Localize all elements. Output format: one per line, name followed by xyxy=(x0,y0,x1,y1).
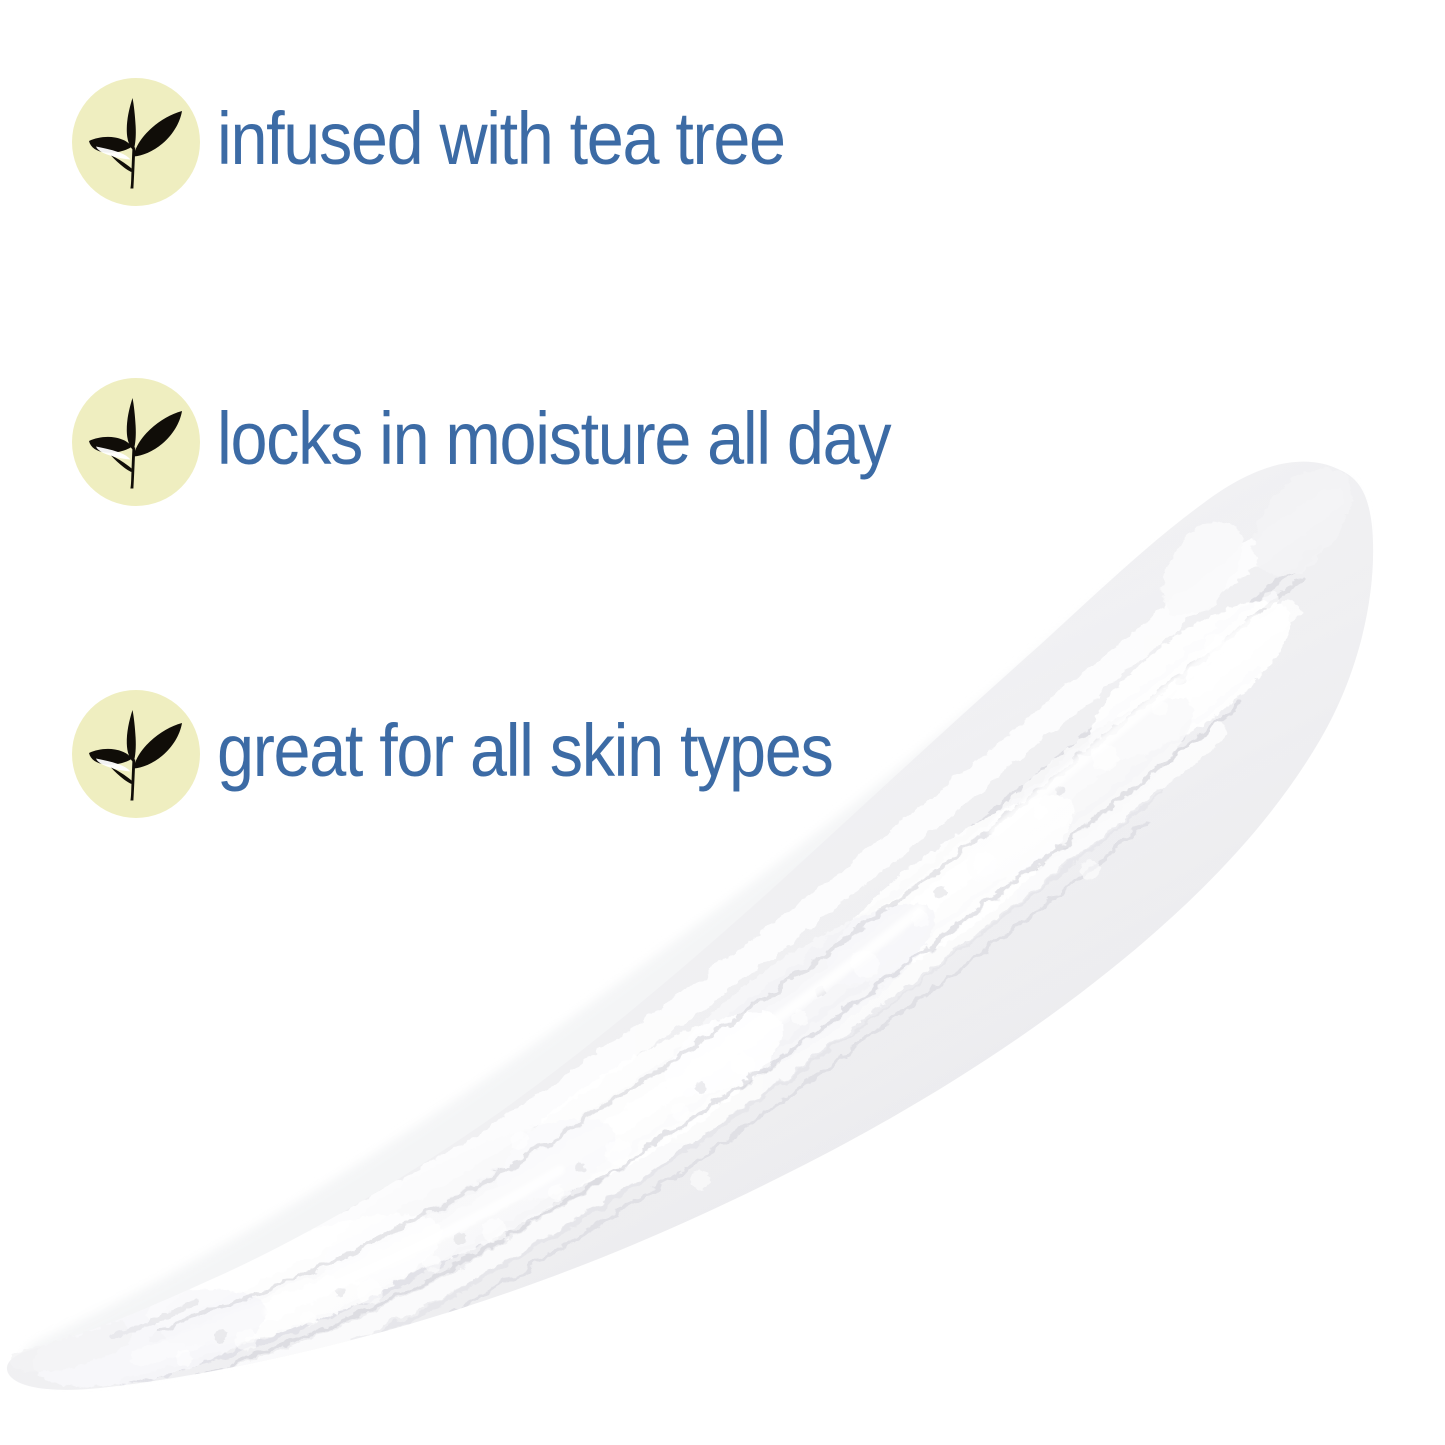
feature-row: great for all skin types xyxy=(72,690,901,818)
tea-leaf-icon xyxy=(72,378,200,506)
cream-smear-swatch xyxy=(0,440,1445,1445)
product-benefit-graphic: infused with tea tree locks in moisture … xyxy=(0,0,1445,1445)
feature-label: great for all skin types xyxy=(217,714,832,794)
feature-row: locks in moisture all day xyxy=(72,378,965,506)
tea-leaf-icon xyxy=(72,78,200,206)
tea-leaf-icon xyxy=(72,690,200,818)
feature-label: locks in moisture all day xyxy=(217,402,890,482)
feature-row: infused with tea tree xyxy=(72,78,848,206)
feature-label: infused with tea tree xyxy=(217,102,785,182)
